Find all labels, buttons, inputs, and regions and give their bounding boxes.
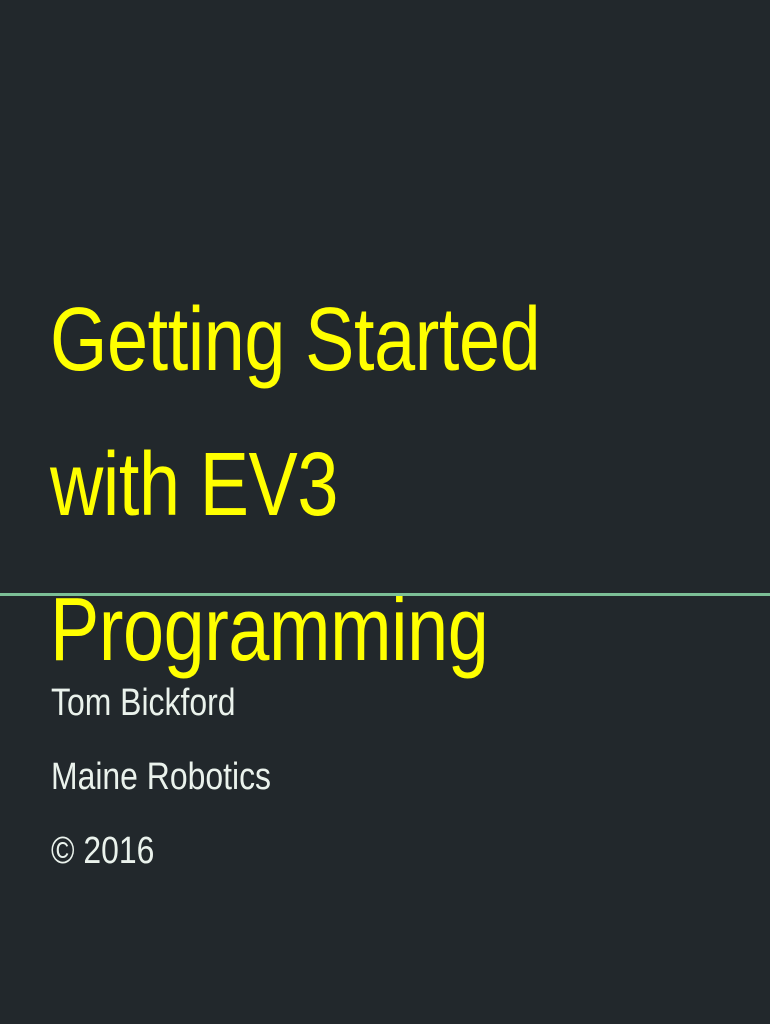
horizontal-divider [0,593,770,596]
title-slide: Getting Started with EV3 Programming Tom… [0,0,770,1024]
subtitle-author: Tom Bickford [51,666,605,740]
title-block: Getting Started with EV3 Programming [50,268,730,703]
subtitle-copyright: © 2016 [51,814,605,888]
subtitle-block: Tom Bickford Maine Robotics © 2016 [51,666,711,888]
page-title: Getting Started with EV3 Programming [50,268,608,703]
subtitle-organization: Maine Robotics [51,740,605,814]
